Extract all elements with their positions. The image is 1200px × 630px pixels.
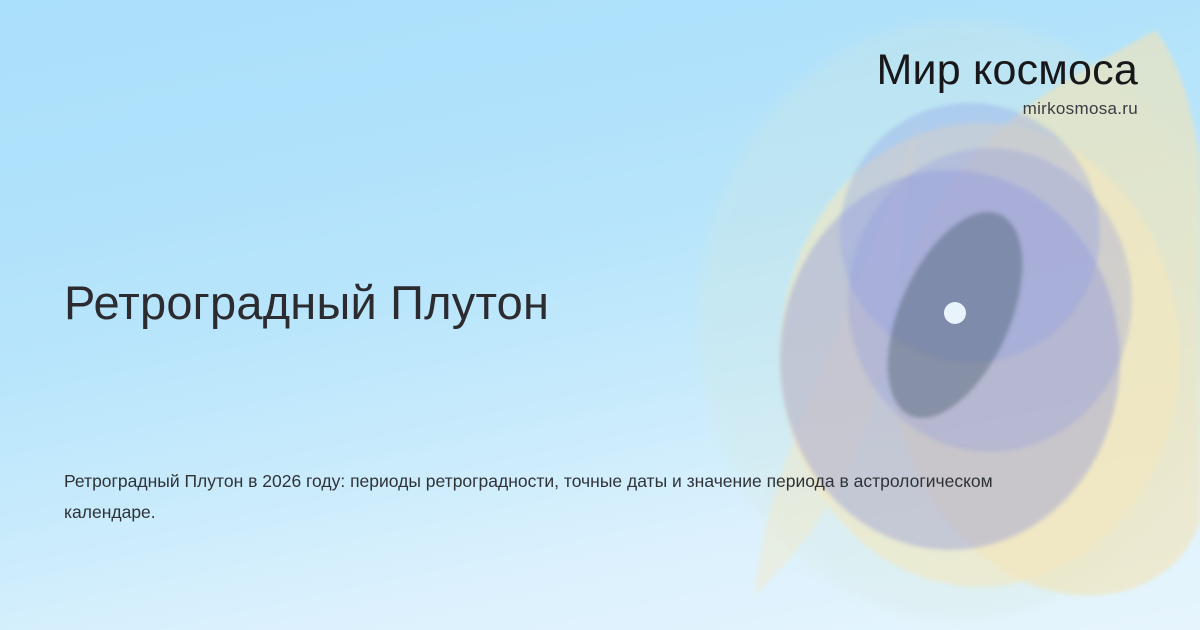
- content-area: Ретроградный Плутон Ретроградный Плутон …: [64, 0, 764, 630]
- page-title: Ретроградный Плутон: [64, 276, 549, 330]
- tilted-slate-ellipse-shape: [860, 192, 1050, 438]
- center-white-dot-shape: [944, 302, 966, 324]
- brand-domain: mirkosmosa.ru: [876, 100, 1138, 117]
- upper-blue-ellipse-shape: [840, 103, 1132, 452]
- brand-logo[interactable]: Мир космоса mirkosmosa.ru: [876, 48, 1138, 117]
- page-description: Ретроградный Плутон в 2026 году: периоды…: [64, 466, 1036, 528]
- og-preview-card: Мир космоса mirkosmosa.ru Ретроградный П…: [0, 0, 1200, 630]
- brand-name: Мир космоса: [876, 48, 1138, 93]
